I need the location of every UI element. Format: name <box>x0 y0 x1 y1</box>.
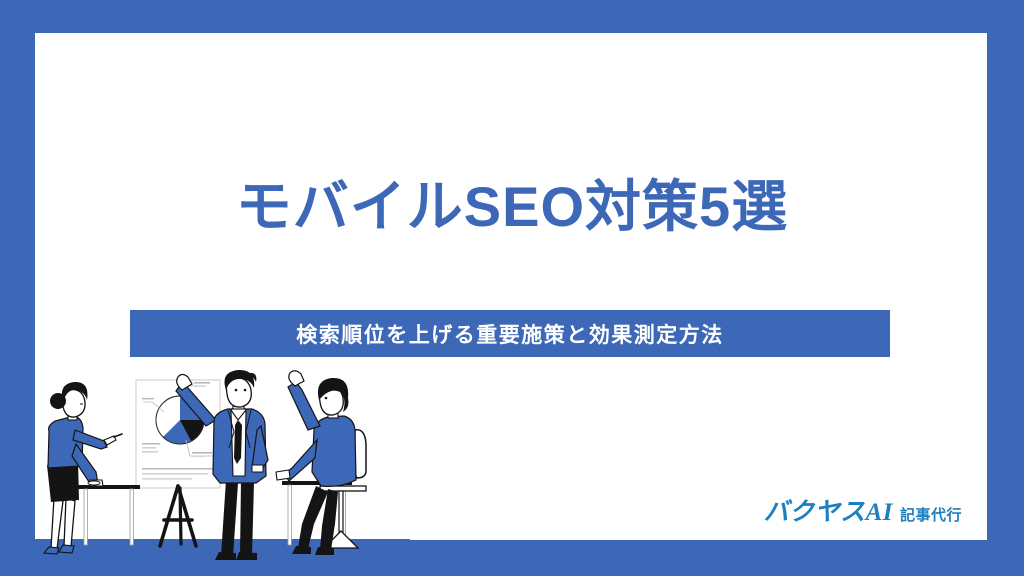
desk-object-left <box>88 481 100 485</box>
figure-woman-pointing <box>44 382 122 554</box>
easel-rear-leg <box>180 488 181 544</box>
brand-logo: バクヤスAI 記事代行 <box>764 492 962 528</box>
subtitle-text: 検索順位を上げる重要施策と効果測定方法 <box>296 319 724 349</box>
slide-root: モバイルSEO対策5選 検索順位を上げる重要施策と効果測定方法 バクヤスAI 記… <box>0 0 1024 576</box>
title-block: モバイルSEO対策5選 <box>0 175 1024 239</box>
subtitle-bar: 検索順位を上げる重要施策と効果測定方法 <box>130 310 890 357</box>
brand-logo-sub: 記事代行 <box>900 504 962 525</box>
left-desk <box>78 485 140 545</box>
flip-chart-poster <box>136 380 220 488</box>
page-title: モバイルSEO対策5選 <box>0 175 1024 239</box>
business-team-presentation-illustration <box>30 368 410 576</box>
brand-logo-main: バクヤスAI <box>764 492 893 528</box>
easel-stand <box>160 486 196 546</box>
